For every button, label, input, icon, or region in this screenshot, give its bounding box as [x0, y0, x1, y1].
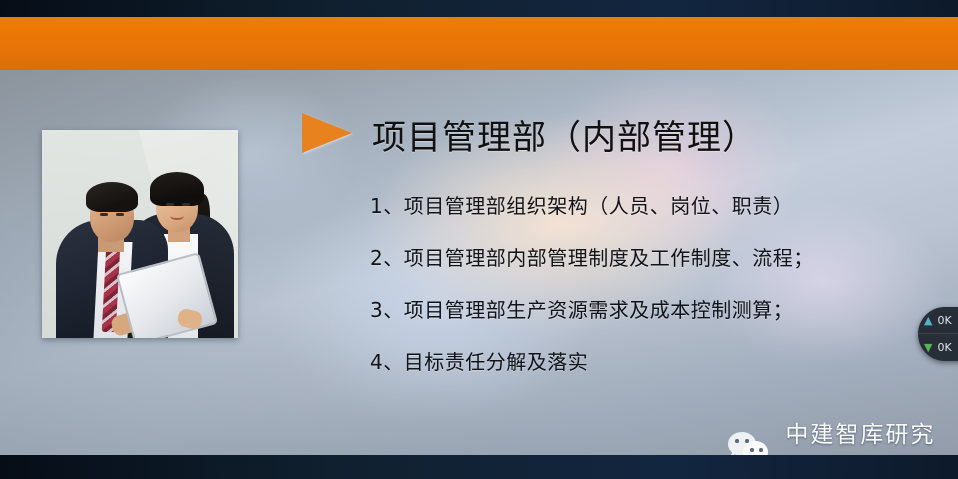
photo-woman-smile	[170, 212, 184, 220]
title-triangle-marker-icon	[302, 113, 352, 153]
orange-header-band	[0, 17, 958, 70]
wechat-dot	[759, 448, 763, 452]
wechat-bubble-small	[743, 441, 768, 455]
photo-woman-eye-right	[182, 203, 190, 206]
photo-man-hair	[86, 182, 138, 212]
wechat-dot	[750, 448, 754, 452]
slide-canvas: 项目管理部（内部管理） 1、项目管理部组织架构（人员、岗位、职责） 2、项目管理…	[0, 70, 958, 455]
upload-speed-value: 0K	[937, 314, 951, 327]
download-speed-value: 0K	[937, 341, 951, 354]
slide-title: 项目管理部（内部管理）	[372, 110, 757, 159]
bottom-letterbox-strip	[0, 455, 958, 479]
photo-man-eye-left	[100, 213, 108, 216]
bullet-item: 2、项目管理部内部管理制度及工作制度、流程；	[370, 248, 814, 268]
bullet-item: 4、目标责任分解及落实	[370, 352, 814, 372]
wechat-icon	[728, 432, 773, 455]
wechat-watermark: 中建智库研究院	[728, 415, 958, 455]
wechat-dot	[745, 439, 749, 443]
wechat-dot	[735, 439, 739, 443]
watermark-label: 中建智库研究院	[785, 415, 958, 455]
screen: 项目管理部（内部管理） 1、项目管理部组织架构（人员、岗位、职责） 2、项目管理…	[0, 0, 958, 479]
slide-bullet-list: 1、项目管理部组织架构（人员、岗位、职责） 2、项目管理部内部管理制度及工作制度…	[370, 196, 814, 372]
upload-arrow-icon: ▲	[924, 315, 932, 326]
photo-man-eye-right	[116, 213, 124, 216]
top-letterbox-strip	[0, 0, 958, 17]
bullet-item: 1、项目管理部组织架构（人员、岗位、职责）	[370, 196, 814, 216]
bullet-item: 3、项目管理部生产资源需求及成本控制测算；	[370, 300, 814, 320]
business-people-photo	[42, 130, 238, 338]
photo-woman-hair	[150, 172, 204, 206]
photo-woman-eye-left	[166, 203, 174, 206]
download-arrow-icon: ▼	[924, 342, 932, 353]
